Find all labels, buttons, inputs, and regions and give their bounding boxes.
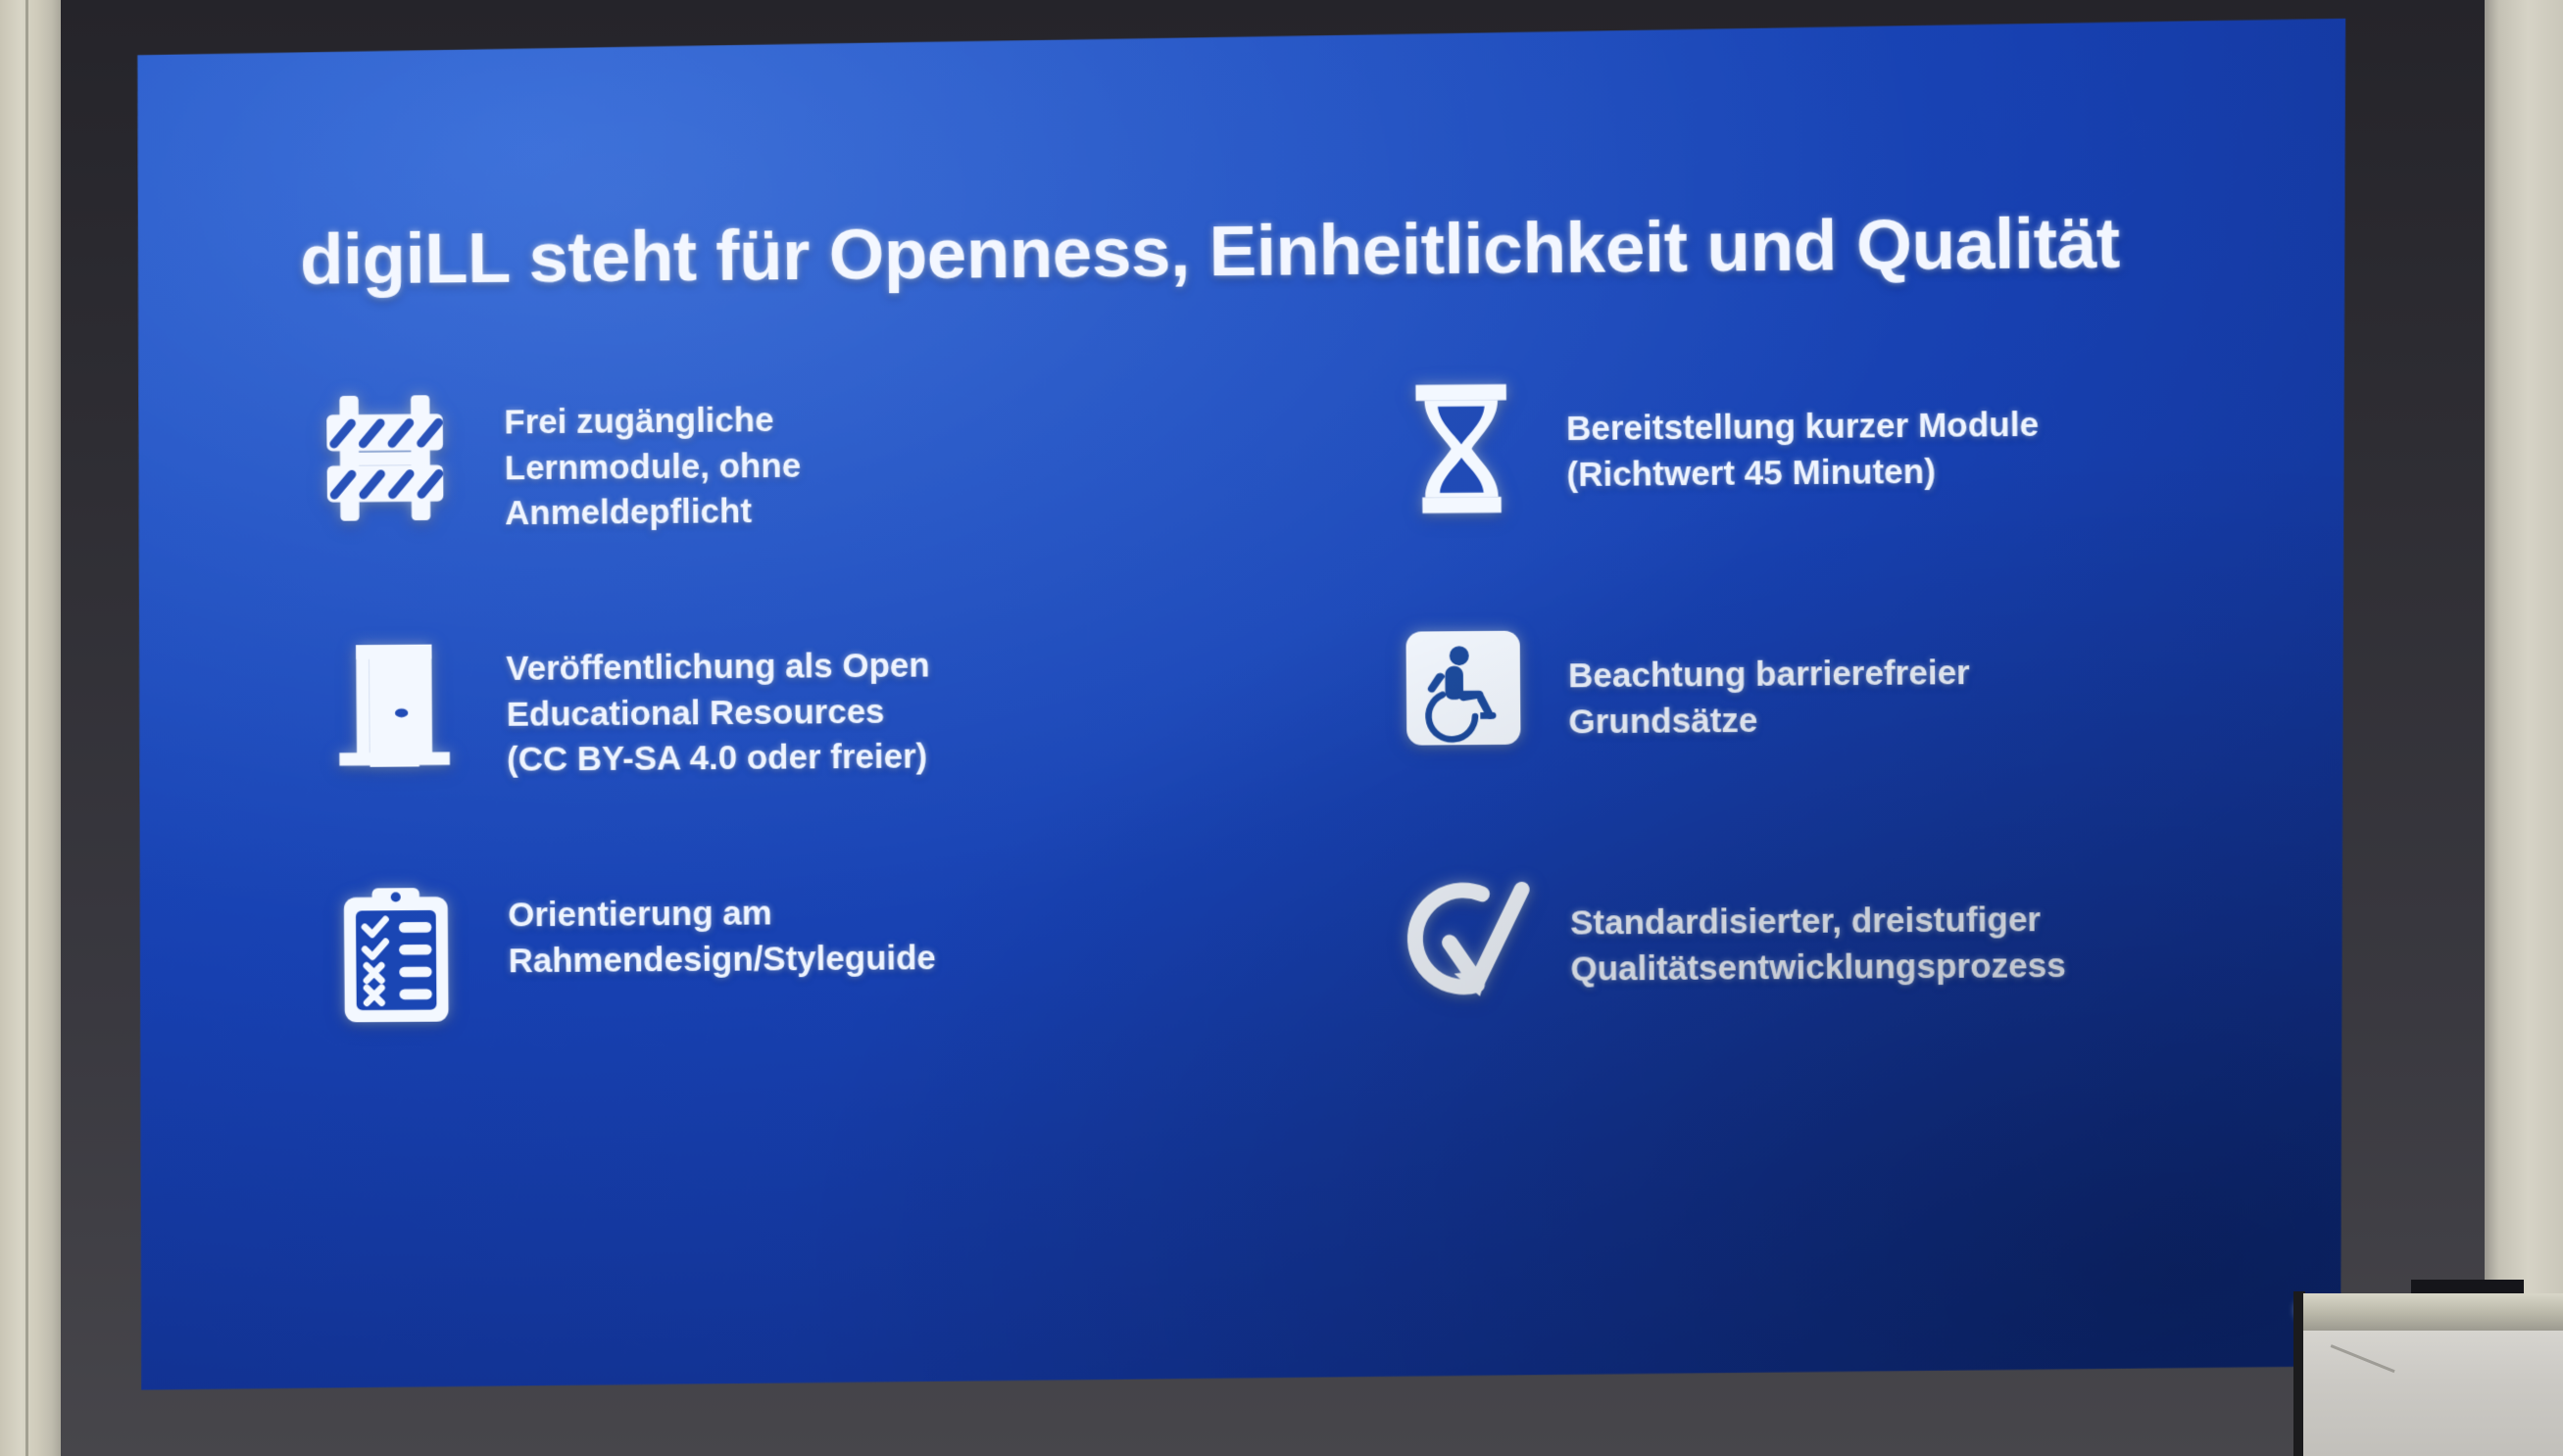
feature-line: Rahmendesign/Styleguide <box>509 936 937 985</box>
feature-text: Frei zugängliche Lernmodule, ohne Anmeld… <box>504 376 802 537</box>
feature-line: Frei zugängliche <box>504 398 801 446</box>
open-door-icon <box>281 625 507 773</box>
feature-text: Standardisierter, dreistufiger Qualitäts… <box>1570 860 2066 993</box>
flipchart-backdrop <box>2411 1280 2524 1293</box>
lecture-room-photo: digiLL steht für Openness, Einheitlichke… <box>0 0 2563 1456</box>
feature-item-quality-process: Standardisierter, dreistufiger Qualitäts… <box>1319 858 2265 1110</box>
room-wall-left <box>0 0 61 1456</box>
flipchart-board <box>2293 1280 2563 1456</box>
hourglass-icon <box>1355 369 1566 518</box>
feature-line: (Richtwert 45 Minuten) <box>1566 449 2039 499</box>
feature-line: Qualitätsentwicklungsprozess <box>1570 944 2066 993</box>
feature-line: Veröffentlichung als Open <box>506 644 930 693</box>
feature-line: Orientierung am <box>508 890 936 939</box>
feature-text: Veröffentlichung als Open Educational Re… <box>506 622 931 784</box>
feature-line: Bereitstellung kurzer Module <box>1566 403 2039 453</box>
slide-canvas: digiLL steht für Openness, Einheitlichke… <box>130 19 2356 1390</box>
feature-line: Standardisierter, dreistufiger <box>1570 898 2066 946</box>
feature-item-short-modules: Bereitstellung kurzer Module (Richtwert … <box>1315 364 2261 619</box>
wheelchair-accessibility-icon <box>1356 616 1568 750</box>
feature-item-styleguide: Orientierung am Rahmendesign/Styleguide <box>283 865 1321 1117</box>
room-wall-right <box>2485 0 2563 1456</box>
clipboard-checklist-icon <box>283 872 509 1026</box>
feature-line: Lernmodule, ohne <box>505 443 802 491</box>
projected-slide: digiLL steht für Openness, Einheitlichke… <box>130 19 2356 1390</box>
feature-text: Orientierung am Rahmendesign/Styleguide <box>508 868 936 984</box>
feature-text: Bereitstellung kurzer Module (Richtwert … <box>1566 365 2040 498</box>
feature-item-accessibility: Beachtung barrierefreier Grundsätze <box>1317 611 2263 866</box>
feature-line: Grundsätze <box>1568 697 1970 746</box>
page-title: digiLL steht für Openness, Einheitlichke… <box>300 201 2261 300</box>
feature-item-oer-license: Veröffentlichung als Open Educational Re… <box>281 618 1319 873</box>
feature-item-open-access: Frei zugängliche Lernmodule, ohne Anmeld… <box>279 371 1317 627</box>
feature-line: Beachtung barrierefreier <box>1568 651 1970 700</box>
feature-line: (CC BY-SA 4.0 oder freier) <box>507 735 931 784</box>
road-barrier-icon <box>279 379 505 528</box>
feature-line: Educational Resources <box>507 689 931 738</box>
content-grid: Frei zugängliche Lernmodule, ohne Anmeld… <box>279 364 2265 1118</box>
flipchart-rail <box>2303 1293 2563 1335</box>
feature-line: Anmeldepflicht <box>505 489 802 537</box>
feature-text: Beachtung barrierefreier Grundsätze <box>1568 613 1971 746</box>
cycle-checkmark-icon <box>1358 864 1570 1009</box>
